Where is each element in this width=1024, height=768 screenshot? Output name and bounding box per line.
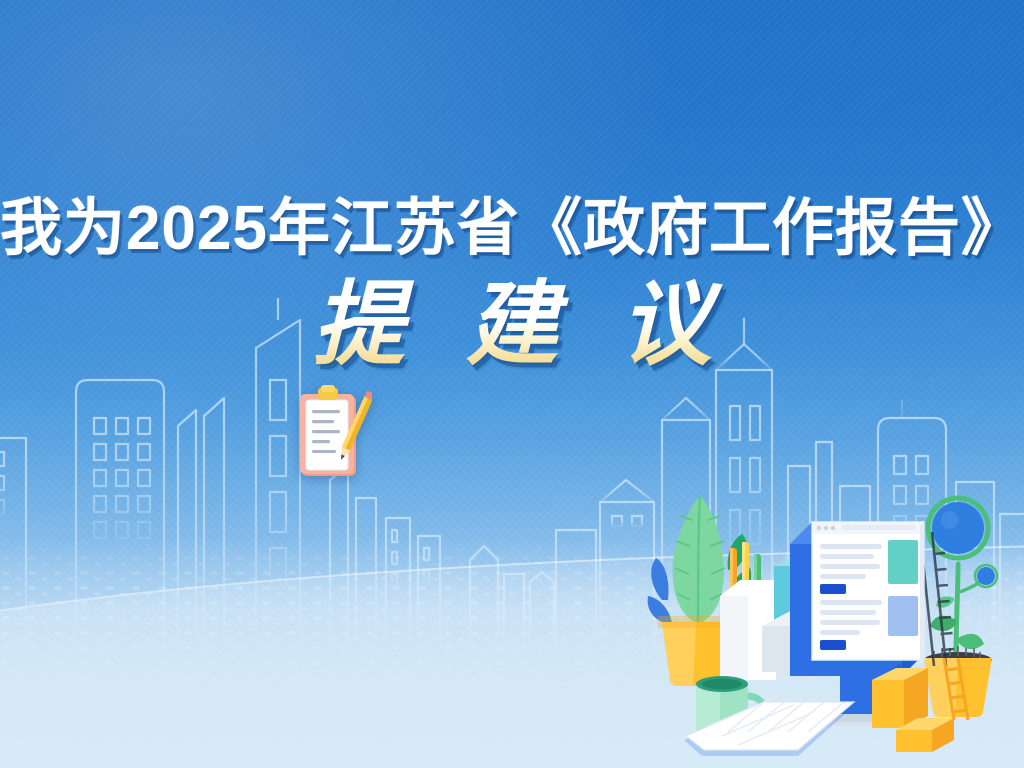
poster-banner: 我为2025年江苏省《政府工作报告》 提 建 议 (0, 0, 1024, 768)
desk-workspace-illustration (644, 448, 1024, 768)
headline-line-1: 我为2025年江苏省《政府工作报告》 (0, 196, 1024, 261)
clipboard-icon (296, 382, 372, 484)
sticky-note-blocks (872, 668, 954, 752)
headline-line-2: 提 建 议 (294, 275, 729, 376)
headline-line-2-wrapper: 提 建 议 (0, 275, 1024, 393)
poster-headline: 我为2025年江苏省《政府工作报告》 提 建 议 (0, 196, 1024, 393)
